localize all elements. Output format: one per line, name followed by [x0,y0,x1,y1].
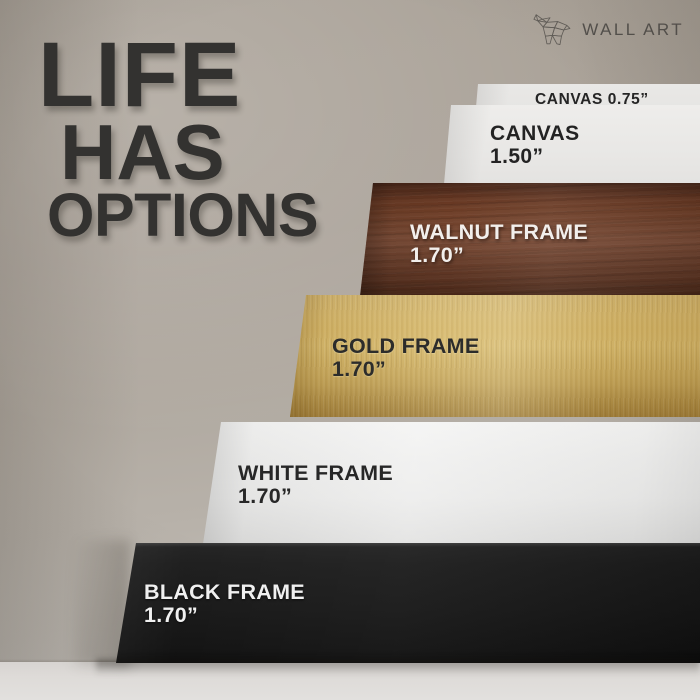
option-slab-black-frame[interactable]: BLACK FRAME 1.70” [116,543,700,663]
option-slab-white-frame[interactable]: WHITE FRAME 1.70” [203,422,700,544]
product-options-poster: LIFE HAS OPTIONS WALL ART CANVAS 0. [0,0,700,700]
option-label-walnut-frame: WALNUT FRAME 1.70” [410,221,588,267]
headline-line-2: HAS [60,119,378,186]
page-title: LIFE HAS OPTIONS [38,36,378,242]
slab-top-bevel [116,543,700,547]
option-label-white-frame: WHITE FRAME 1.70” [238,462,393,508]
brand-logo[interactable]: WALL ART [527,12,684,48]
option-label-black-frame: BLACK FRAME 1.70” [144,581,305,627]
option-slab-walnut-frame[interactable]: WALNUT FRAME 1.70” [359,183,700,305]
headline-line-1: LIFE [38,36,378,115]
origami-goat-icon [527,12,573,48]
option-label-gold-frame: GOLD FRAME 1.70” [332,335,480,381]
brand-name: WALL ART [582,20,684,40]
option-slab-gold-frame[interactable]: GOLD FRAME 1.70” [290,295,700,417]
stack-contact-shadow [96,659,700,675]
headline-line-3: OPTIONS [47,189,378,241]
option-label-canvas-150: CANVAS 1.50” [490,123,580,168]
